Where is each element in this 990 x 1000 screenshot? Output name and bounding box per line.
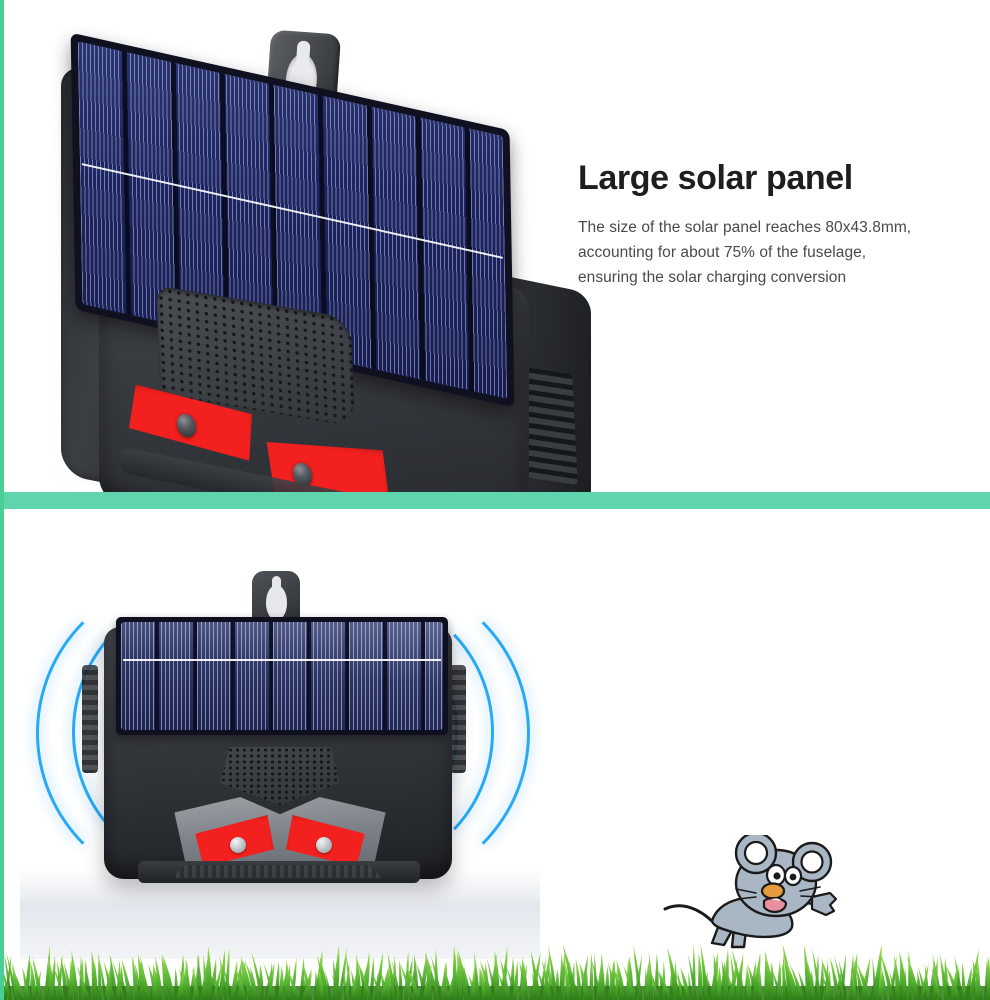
left-edge-accent-stripe <box>0 0 4 1000</box>
housing-base-tread <box>172 865 382 878</box>
product-image-solar-repeller-angled <box>25 10 585 492</box>
grass-blade <box>494 951 500 1000</box>
body-large-solar-panel: The size of the solar panel reaches 80x4… <box>578 215 978 290</box>
grass-blade <box>440 961 447 1000</box>
solar-panel <box>116 617 448 735</box>
grass-blade <box>962 962 966 1000</box>
led-lens-right <box>316 837 332 853</box>
section-divider <box>0 492 990 509</box>
grass-blade <box>356 954 361 1000</box>
keyhole-slot-icon <box>266 585 287 620</box>
housing-side-fins-left <box>82 665 98 773</box>
product-infographic-page: Large solar panel The size of the solar … <box>0 0 990 1000</box>
grass-blade <box>452 945 457 1000</box>
led-lens-left <box>230 837 246 853</box>
grass-blade <box>608 958 615 1000</box>
section-large-solar-panel: Large solar panel The size of the solar … <box>0 0 990 492</box>
grass-blade <box>98 952 102 1000</box>
grass-blade <box>776 960 781 1000</box>
solar-cell-dividers <box>121 622 443 730</box>
grass-blade <box>434 949 438 1000</box>
copy-block-large-solar-panel: Large solar panel The size of the solar … <box>578 160 978 290</box>
housing-side-fins-right <box>450 665 466 773</box>
solar-cell-surface <box>121 622 443 730</box>
grass-strip <box>0 942 990 1000</box>
headline-large-solar-panel: Large solar panel <box>578 160 978 197</box>
product-image-solar-repeller-front <box>20 569 540 929</box>
solar-busbar <box>123 659 441 661</box>
